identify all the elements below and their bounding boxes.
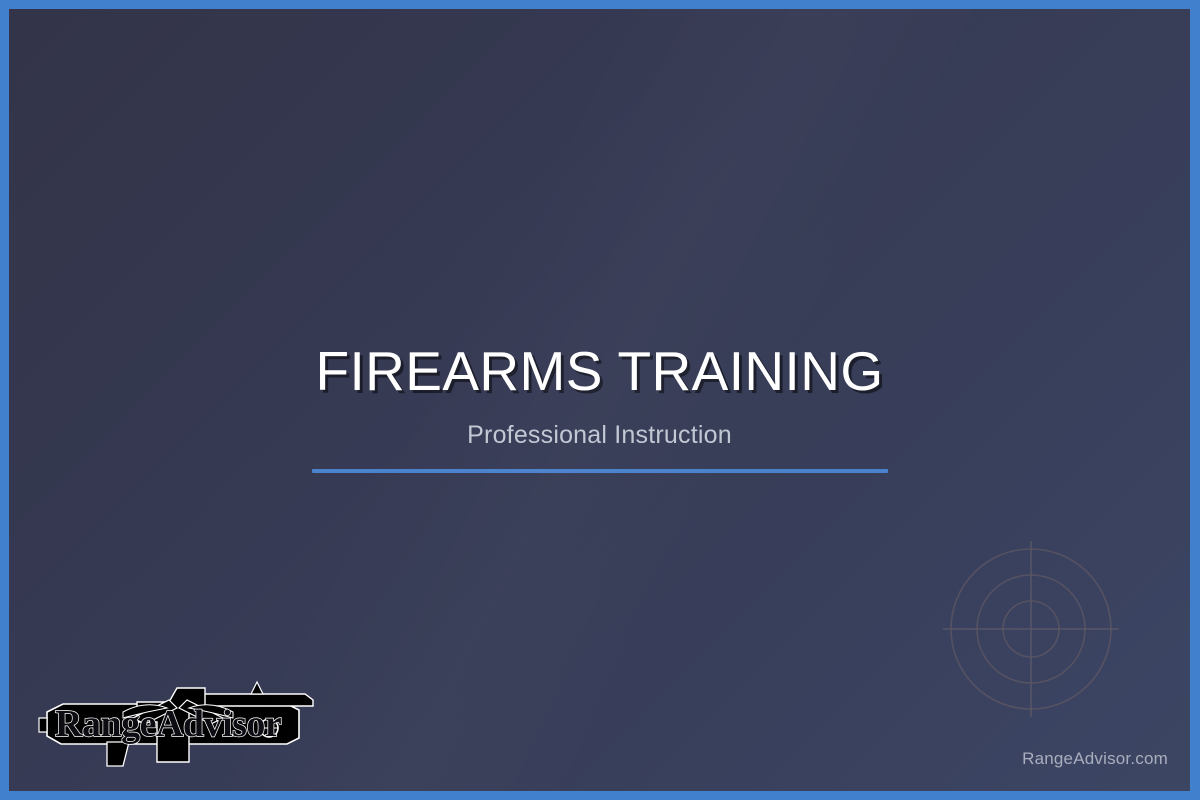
title-block: FIREARMS TRAINING Professional Instructi…	[9, 343, 1190, 473]
slide-canvas: FIREARMS TRAINING Professional Instructi…	[9, 9, 1190, 791]
footer-url: RangeAdvisor.com	[1022, 749, 1168, 769]
page-title: FIREARMS TRAINING	[9, 343, 1190, 401]
logo-wordmark: RangeAdvisor	[55, 703, 282, 745]
accent-divider	[312, 469, 888, 473]
page-subtitle: Professional Instruction	[9, 421, 1190, 450]
rangeadvisor-logo: RangeAdvisor	[37, 672, 319, 770]
crosshair-target-icon	[940, 538, 1122, 720]
slide-border-frame: FIREARMS TRAINING Professional Instructi…	[0, 0, 1200, 800]
